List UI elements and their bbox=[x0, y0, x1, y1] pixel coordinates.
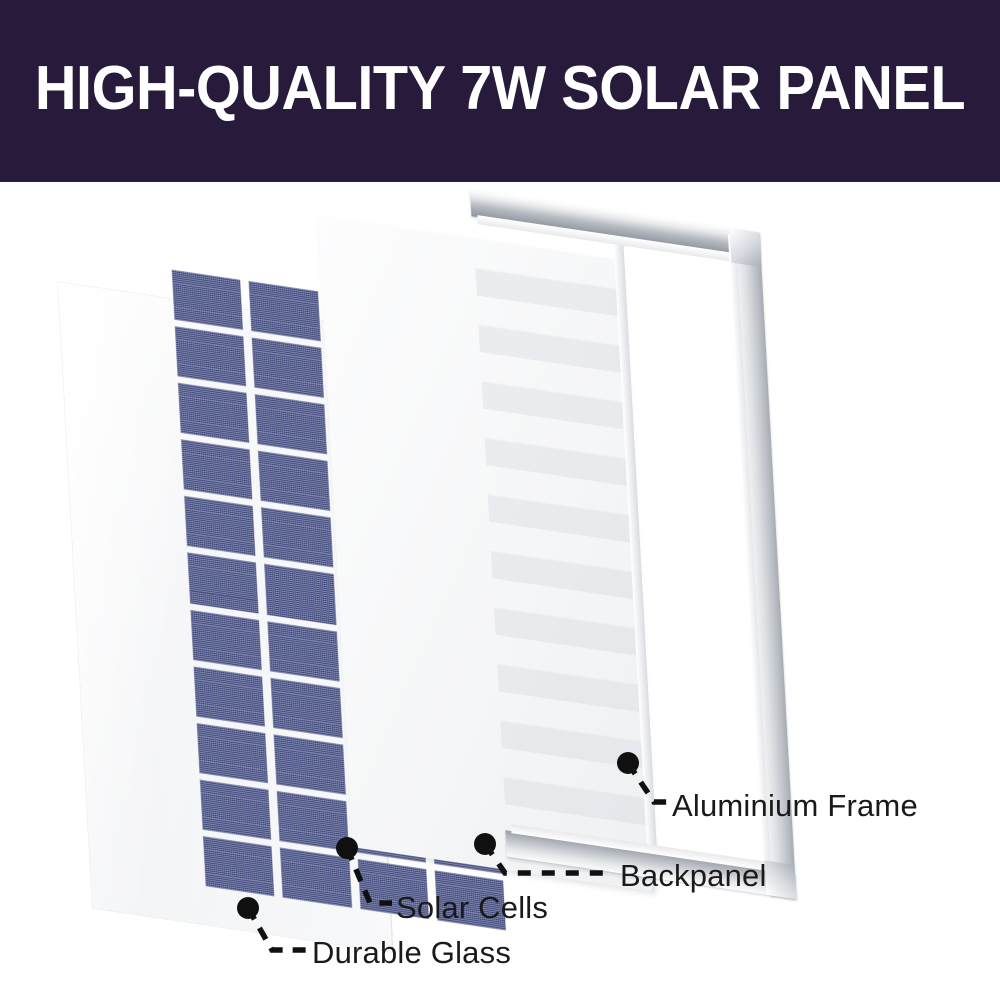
header-banner: HIGH-QUALITY 7W SOLAR PANEL bbox=[0, 0, 1000, 182]
solar-cell bbox=[271, 678, 342, 738]
page-title: HIGH-QUALITY 7W SOLAR PANEL bbox=[35, 0, 965, 182]
product-exploded-view bbox=[0, 182, 1000, 1000]
solar-cell bbox=[178, 383, 249, 443]
solar-cell bbox=[249, 281, 320, 341]
frame-corner-top-right bbox=[730, 228, 762, 267]
solar-cell bbox=[274, 734, 345, 794]
infographic-canvas: HIGH-QUALITY 7W SOLAR PANEL bbox=[0, 0, 1000, 1000]
solar-cell bbox=[280, 848, 351, 908]
solar-cell bbox=[188, 553, 259, 613]
solar-cell bbox=[265, 565, 336, 625]
solar-cell bbox=[191, 610, 262, 670]
solar-cell bbox=[181, 440, 252, 500]
solar-cell bbox=[255, 395, 326, 455]
solar-cell bbox=[262, 508, 333, 568]
solar-cell bbox=[172, 270, 243, 330]
solar-cell bbox=[185, 497, 256, 557]
solar-cell bbox=[197, 723, 268, 783]
callout-label-solar-cells: Solar Cells bbox=[396, 890, 548, 926]
solar-cell bbox=[203, 836, 274, 896]
solar-cell bbox=[252, 338, 323, 398]
solar-cell bbox=[200, 780, 271, 840]
callout-label-durable-glass: Durable Glass bbox=[312, 935, 511, 971]
solar-cell bbox=[277, 791, 348, 851]
callout-label-backpanel: Backpanel bbox=[620, 858, 767, 894]
solar-cell bbox=[259, 451, 330, 511]
callout-label-aluminium-frame: Aluminium Frame bbox=[672, 788, 918, 824]
solar-cell bbox=[194, 666, 265, 726]
frame-corner-bottom-right bbox=[765, 860, 797, 899]
solar-cell bbox=[175, 327, 246, 387]
solar-cell bbox=[268, 621, 339, 681]
